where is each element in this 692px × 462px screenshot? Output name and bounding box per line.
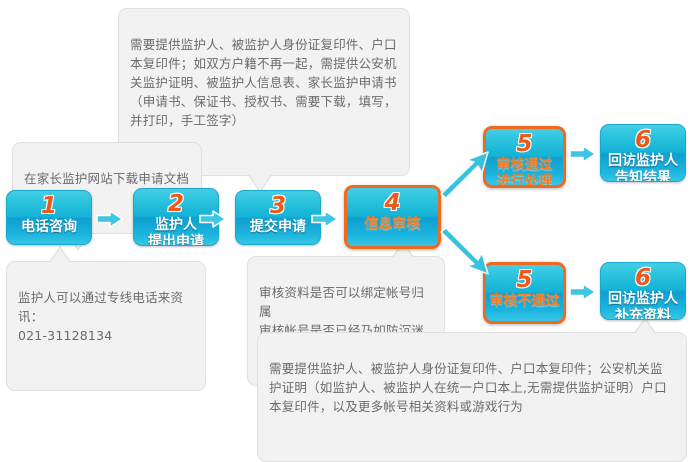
note-hotline-phone: 监护人可以通过专线电话来资讯： 021-31128134 bbox=[6, 261, 206, 391]
arrow-pass-to-notify-icon bbox=[569, 144, 597, 164]
step-box-5-review-passed[interactable]: 5 审核通过 进行处理 bbox=[483, 126, 566, 188]
step-number: 5 bbox=[516, 268, 532, 292]
step-number: 1 bbox=[41, 194, 57, 218]
note-supplementary-documents: 需要提供监护人、被监护人身份证复印件、户口本复印件；公安机关监护证明（如监护人、… bbox=[257, 332, 687, 462]
step-label: 电话咨询 bbox=[21, 219, 77, 236]
step-box-6-notify-result[interactable]: 6 回访监护人 告知结果 bbox=[600, 124, 686, 182]
step-box-3-submit-application[interactable]: 3 提交申请 bbox=[235, 190, 321, 245]
step-label: 监护人 提出申请 bbox=[148, 217, 204, 246]
arrow-step2-to-step3-icon bbox=[199, 209, 227, 229]
flowchart-canvas: 需要提供监护人、被监护人身份证复印件、户口本复印件；如双方户籍不再一起，需提供公… bbox=[0, 0, 692, 422]
arrow-step1-to-step2-icon bbox=[96, 209, 124, 229]
step-box-5-review-failed[interactable]: 5 审核不通过 bbox=[483, 262, 566, 324]
note-required-documents-text: 需要提供监护人、被监护人身份证复印件、户口本复印件；如双方户籍不再一起，需提供公… bbox=[130, 37, 397, 128]
step-box-4-information-review[interactable]: 4 信息审核 bbox=[344, 185, 441, 249]
arrow-step3-to-step4-icon bbox=[311, 209, 339, 229]
step-label: 信息审核 bbox=[365, 216, 421, 233]
arrow-fail-to-notify-icon bbox=[569, 282, 597, 302]
step-number: 6 bbox=[635, 266, 651, 290]
step-number: 3 bbox=[270, 194, 286, 218]
step-number: 2 bbox=[168, 192, 184, 216]
note-download-documents-text: 在家长监护网站下载申请文档 bbox=[24, 171, 189, 186]
note-supplementary-documents-text: 需要提供监护人、被监护人身份证复印件、户口本复印件；公安机关监护证明（如监护人、… bbox=[269, 361, 667, 414]
step-label: 提交申请 bbox=[250, 219, 306, 236]
step-number: 4 bbox=[384, 191, 400, 215]
callout-tail bbox=[635, 319, 655, 334]
callout-tail bbox=[249, 174, 271, 191]
step-box-6-request-more-docs[interactable]: 6 回访监护人 补充资料 bbox=[600, 262, 686, 320]
callout-tail bbox=[50, 248, 70, 263]
step-label: 回访监护人 告知结果 bbox=[608, 153, 678, 182]
step-label: 审核通过 进行处理 bbox=[497, 157, 553, 188]
step-number: 5 bbox=[516, 132, 532, 156]
arrow-step4-to-pass-icon bbox=[440, 148, 492, 200]
note-audit-criteria-text: 审核资料是否可以绑定帐号归属 审核帐号是否已经乃如防沉迷 bbox=[259, 285, 424, 338]
note-hotline-phone-text: 监护人可以通过专线电话来资讯： 021-31128134 bbox=[18, 290, 183, 343]
arrow-step4-to-fail-icon bbox=[440, 228, 492, 280]
step-box-1-phone-consult[interactable]: 1 电话咨询 bbox=[6, 190, 92, 245]
step-number: 6 bbox=[635, 128, 651, 152]
step-label: 回访监护人 补充资料 bbox=[608, 291, 678, 320]
step-label: 审核不通过 bbox=[490, 293, 560, 310]
